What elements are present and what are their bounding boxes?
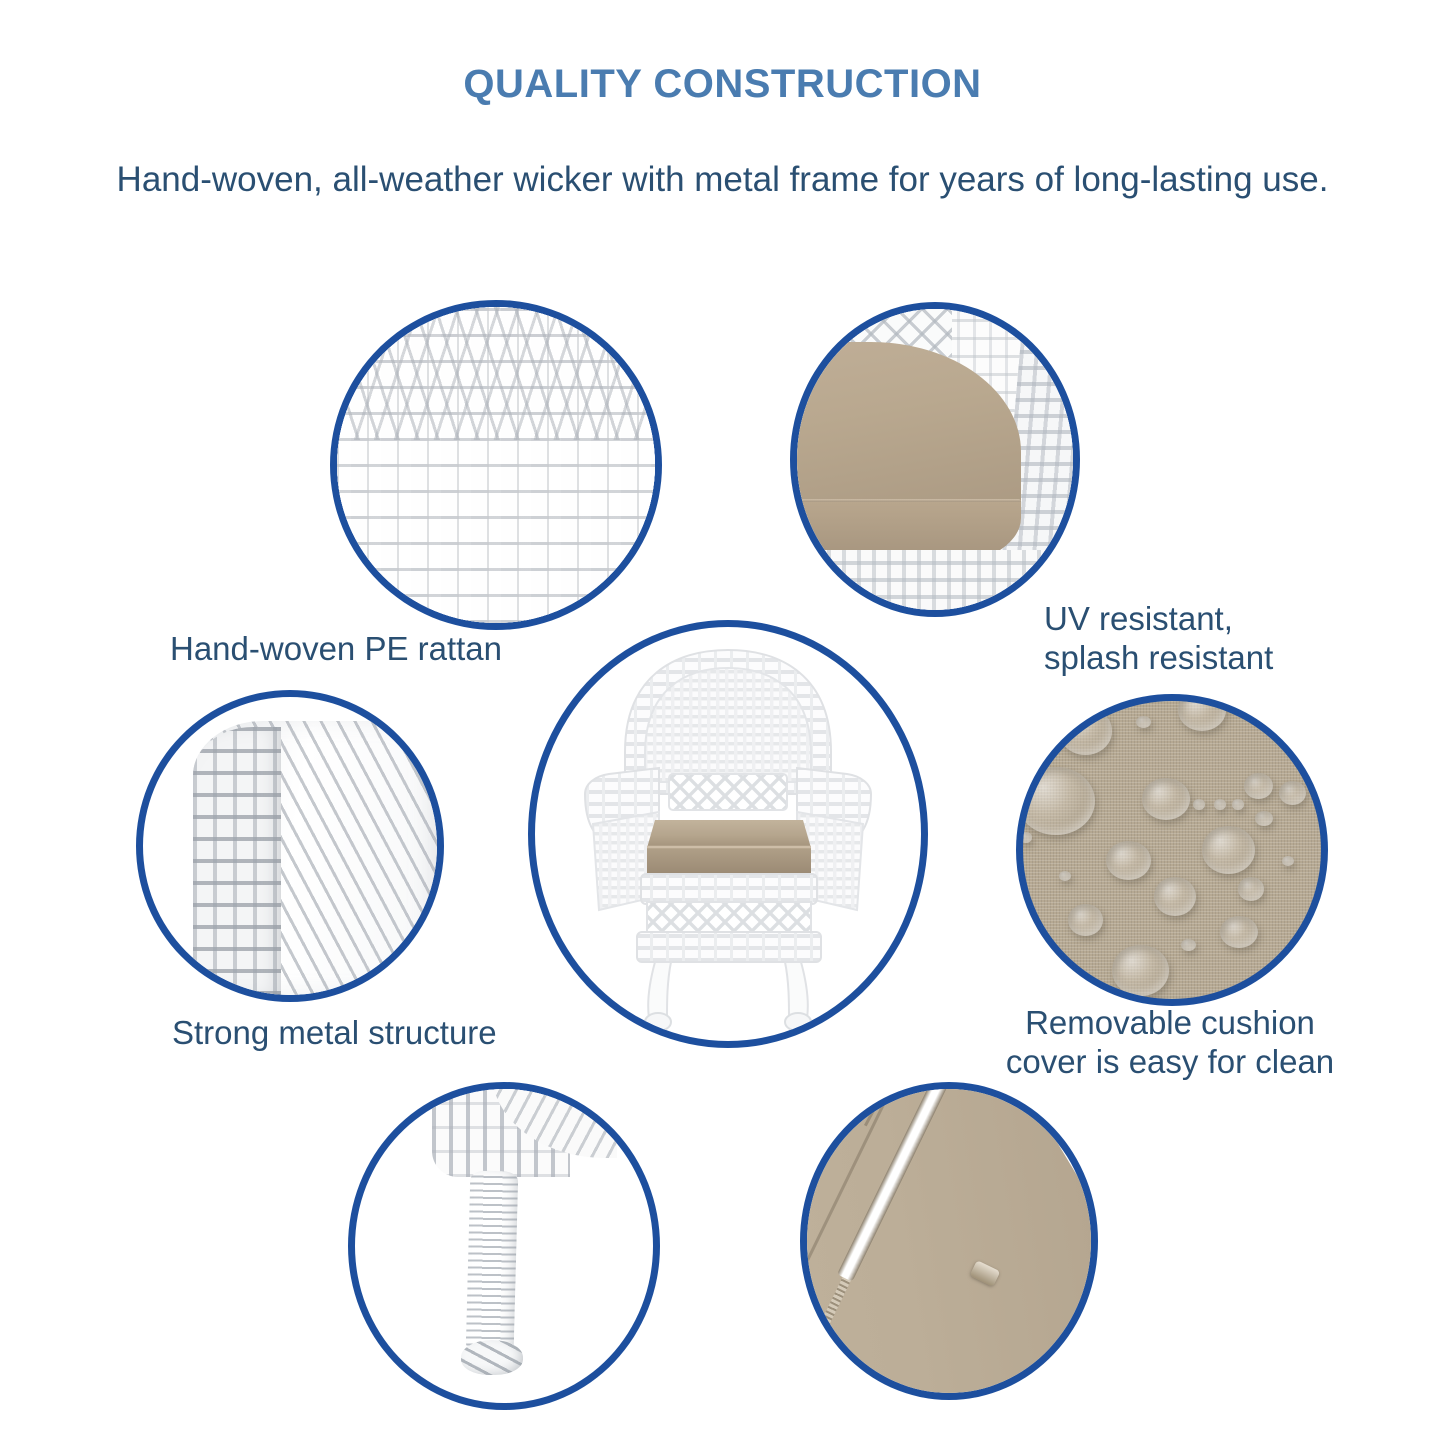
cushion-cover-fabric: [800, 1082, 1098, 1400]
feature-bubble-hand-woven-pe-rattan: [330, 300, 662, 630]
photo-cushion-zipper: [807, 1089, 1091, 1393]
feature-bubble-removable-cushion-cover: [800, 1082, 1098, 1400]
leg-foot: [461, 1340, 524, 1375]
feature-bubble-chair-leg-detail: [348, 1082, 660, 1410]
chair-lower-lattice: [647, 902, 811, 934]
chair-right-foot: [785, 1013, 811, 1031]
water-drop: [1068, 904, 1104, 937]
caption-hand-woven-pe-rattan: Hand-woven PE rattan: [170, 630, 590, 669]
water-drop: [1017, 767, 1094, 836]
photo-hand-woven-pe-rattan: [337, 307, 655, 623]
chair-front-right-leg: [785, 962, 808, 1018]
seat-cushion-side: [647, 846, 811, 874]
water-drop: [1059, 707, 1113, 755]
chair-back-lattice-band: [669, 774, 787, 810]
chair-front-left-leg: [648, 962, 671, 1018]
seat-base-weave: [797, 550, 1073, 616]
water-drop: [1154, 877, 1196, 916]
photo-cushion-closeup: [797, 309, 1073, 610]
photo-water-droplets: [1023, 701, 1321, 999]
infographic-page: QUALITY CONSTRUCTION Hand-woven, all-wea…: [0, 0, 1445, 1445]
chair-left-foot: [645, 1013, 671, 1031]
page-subtitle: Hand-woven, all-weather wicker with meta…: [0, 160, 1445, 200]
caption-removable-cushion-cover: Removable cushion cover is easy for clea…: [980, 1004, 1360, 1082]
water-drop: [1232, 799, 1244, 809]
photo-armrest-corner: [143, 697, 437, 995]
water-drop: [1059, 871, 1071, 881]
photo-full-chair: [535, 627, 921, 1041]
water-drop: [1279, 781, 1306, 805]
feature-bubble-uv-splash-resistant: [790, 302, 1080, 617]
photo-chair-leg: [355, 1089, 653, 1403]
page-title: QUALITY CONSTRUCTION: [0, 62, 1445, 107]
water-drop: [1238, 877, 1265, 901]
chair-seat-base: [641, 874, 817, 904]
water-drop: [1020, 832, 1032, 842]
water-drop: [1193, 799, 1205, 809]
water-drop: [1220, 916, 1259, 949]
water-drop: [1142, 778, 1190, 820]
leg-shaft: [466, 1170, 518, 1353]
water-drop: [1181, 939, 1196, 951]
chair-bottom-rail: [637, 932, 821, 962]
water-drop: [1255, 811, 1273, 826]
water-drop: [1244, 773, 1274, 800]
water-drop: [1112, 945, 1169, 996]
water-drop: [1214, 799, 1226, 809]
chair-svg: [563, 634, 893, 1034]
feature-bubble-strong-metal-structure: [136, 690, 444, 1002]
water-drop: [1178, 694, 1226, 731]
armrest-front-face: [193, 727, 281, 995]
water-drop: [1106, 841, 1151, 880]
water-drop: [1282, 856, 1294, 866]
chair-illustration: [563, 634, 893, 1034]
feature-bubble-water-bead-detail: [1016, 694, 1328, 1006]
center-bubble-full-chair: [528, 620, 928, 1048]
seat-cushion-top: [647, 820, 811, 848]
caption-uv-splash-resistant: UV resistant, splash resistant: [1044, 600, 1344, 678]
water-drop: [1136, 716, 1151, 728]
water-drop: [1202, 826, 1256, 874]
